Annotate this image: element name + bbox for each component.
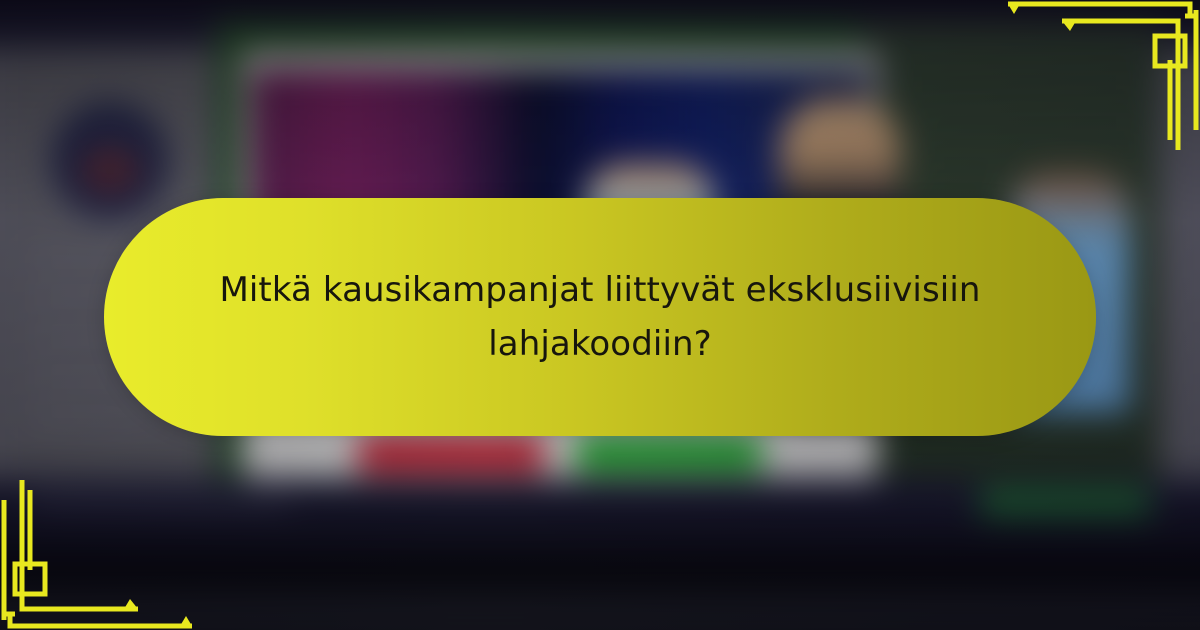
question-text: Mitkä kausikampanjat liittyvät eksklusii… — [181, 263, 1019, 372]
banner-stage: Mitkä kausikampanjat liittyvät eksklusii… — [0, 0, 1200, 630]
question-pill: Mitkä kausikampanjat liittyvät eksklusii… — [104, 198, 1096, 436]
